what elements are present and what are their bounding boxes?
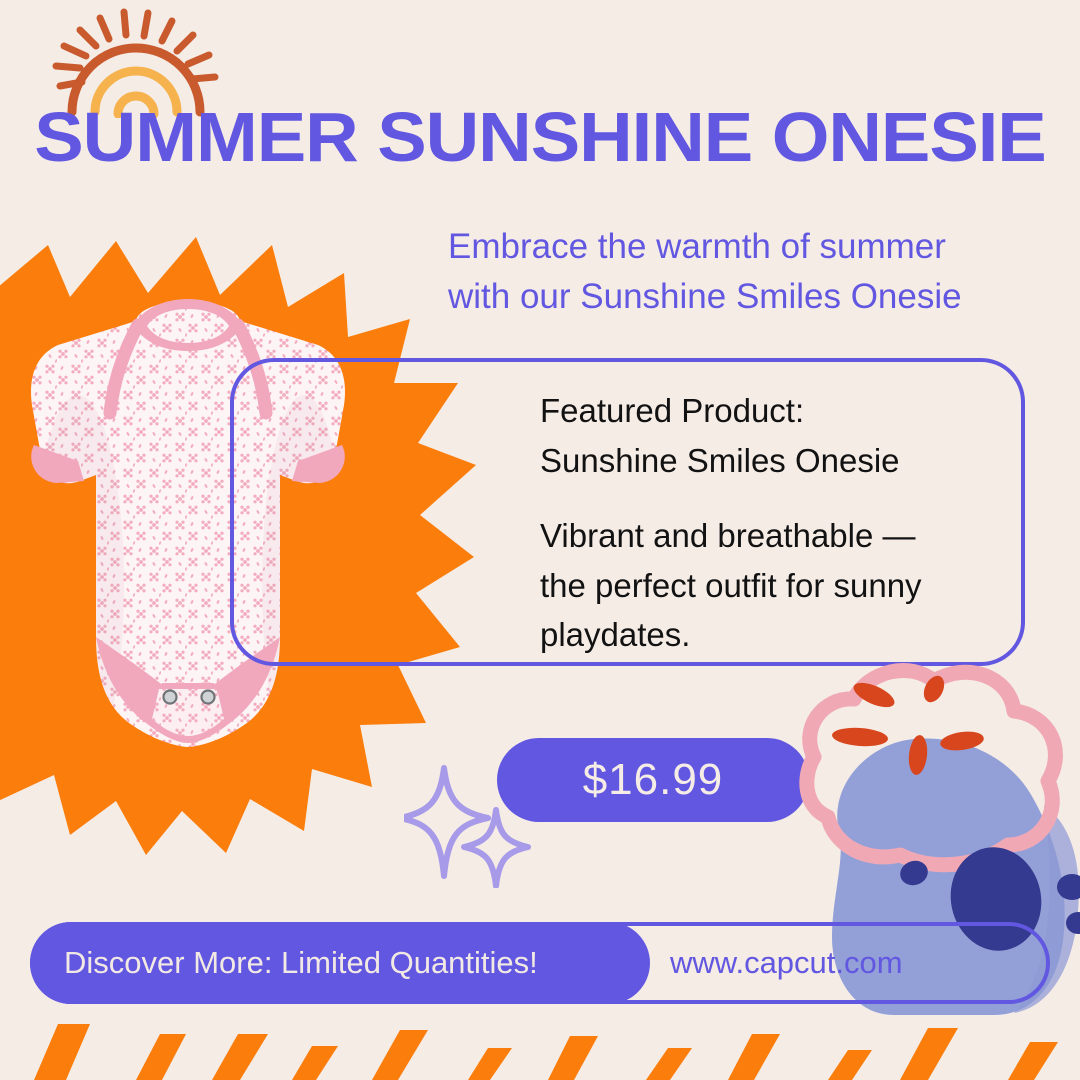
website-url-label: www.capcut.com [670, 945, 903, 981]
subtitle-line-1: Embrace the warmth of summer [448, 222, 1008, 272]
sparkle-icon [404, 762, 534, 888]
feature-card-text: Featured Product: Sunshine Smiles Onesie… [540, 386, 1010, 660]
brush-stroke-row [0, 1012, 1080, 1080]
discover-more-label: Discover More: Limited Quantities! [64, 945, 538, 981]
featured-product-label: Featured Product: [540, 386, 1010, 436]
featured-product-name: Sunshine Smiles Onesie [540, 436, 1010, 486]
price-badge[interactable]: $16.99 [497, 738, 809, 822]
page-title: SUMMER SUNSHINE ONESIE [0, 102, 1080, 172]
feature-description-line-3: playdates. [540, 610, 1010, 660]
website-url-link[interactable]: www.capcut.com [670, 922, 1050, 1004]
poster-canvas: SUMMER SUNSHINE ONESIE [0, 0, 1080, 1080]
subtitle-line-2: with our Sunshine Smiles Onesie [448, 272, 1008, 322]
subtitle: Embrace the warmth of summer with our Su… [448, 222, 1008, 321]
discover-more-button[interactable]: Discover More: Limited Quantities! [30, 922, 650, 1004]
feature-description-line-1: Vibrant and breathable — [540, 511, 1010, 561]
feature-description-line-2: the perfect outfit for sunny [540, 561, 1010, 611]
price-amount: $16.99 [583, 755, 724, 805]
